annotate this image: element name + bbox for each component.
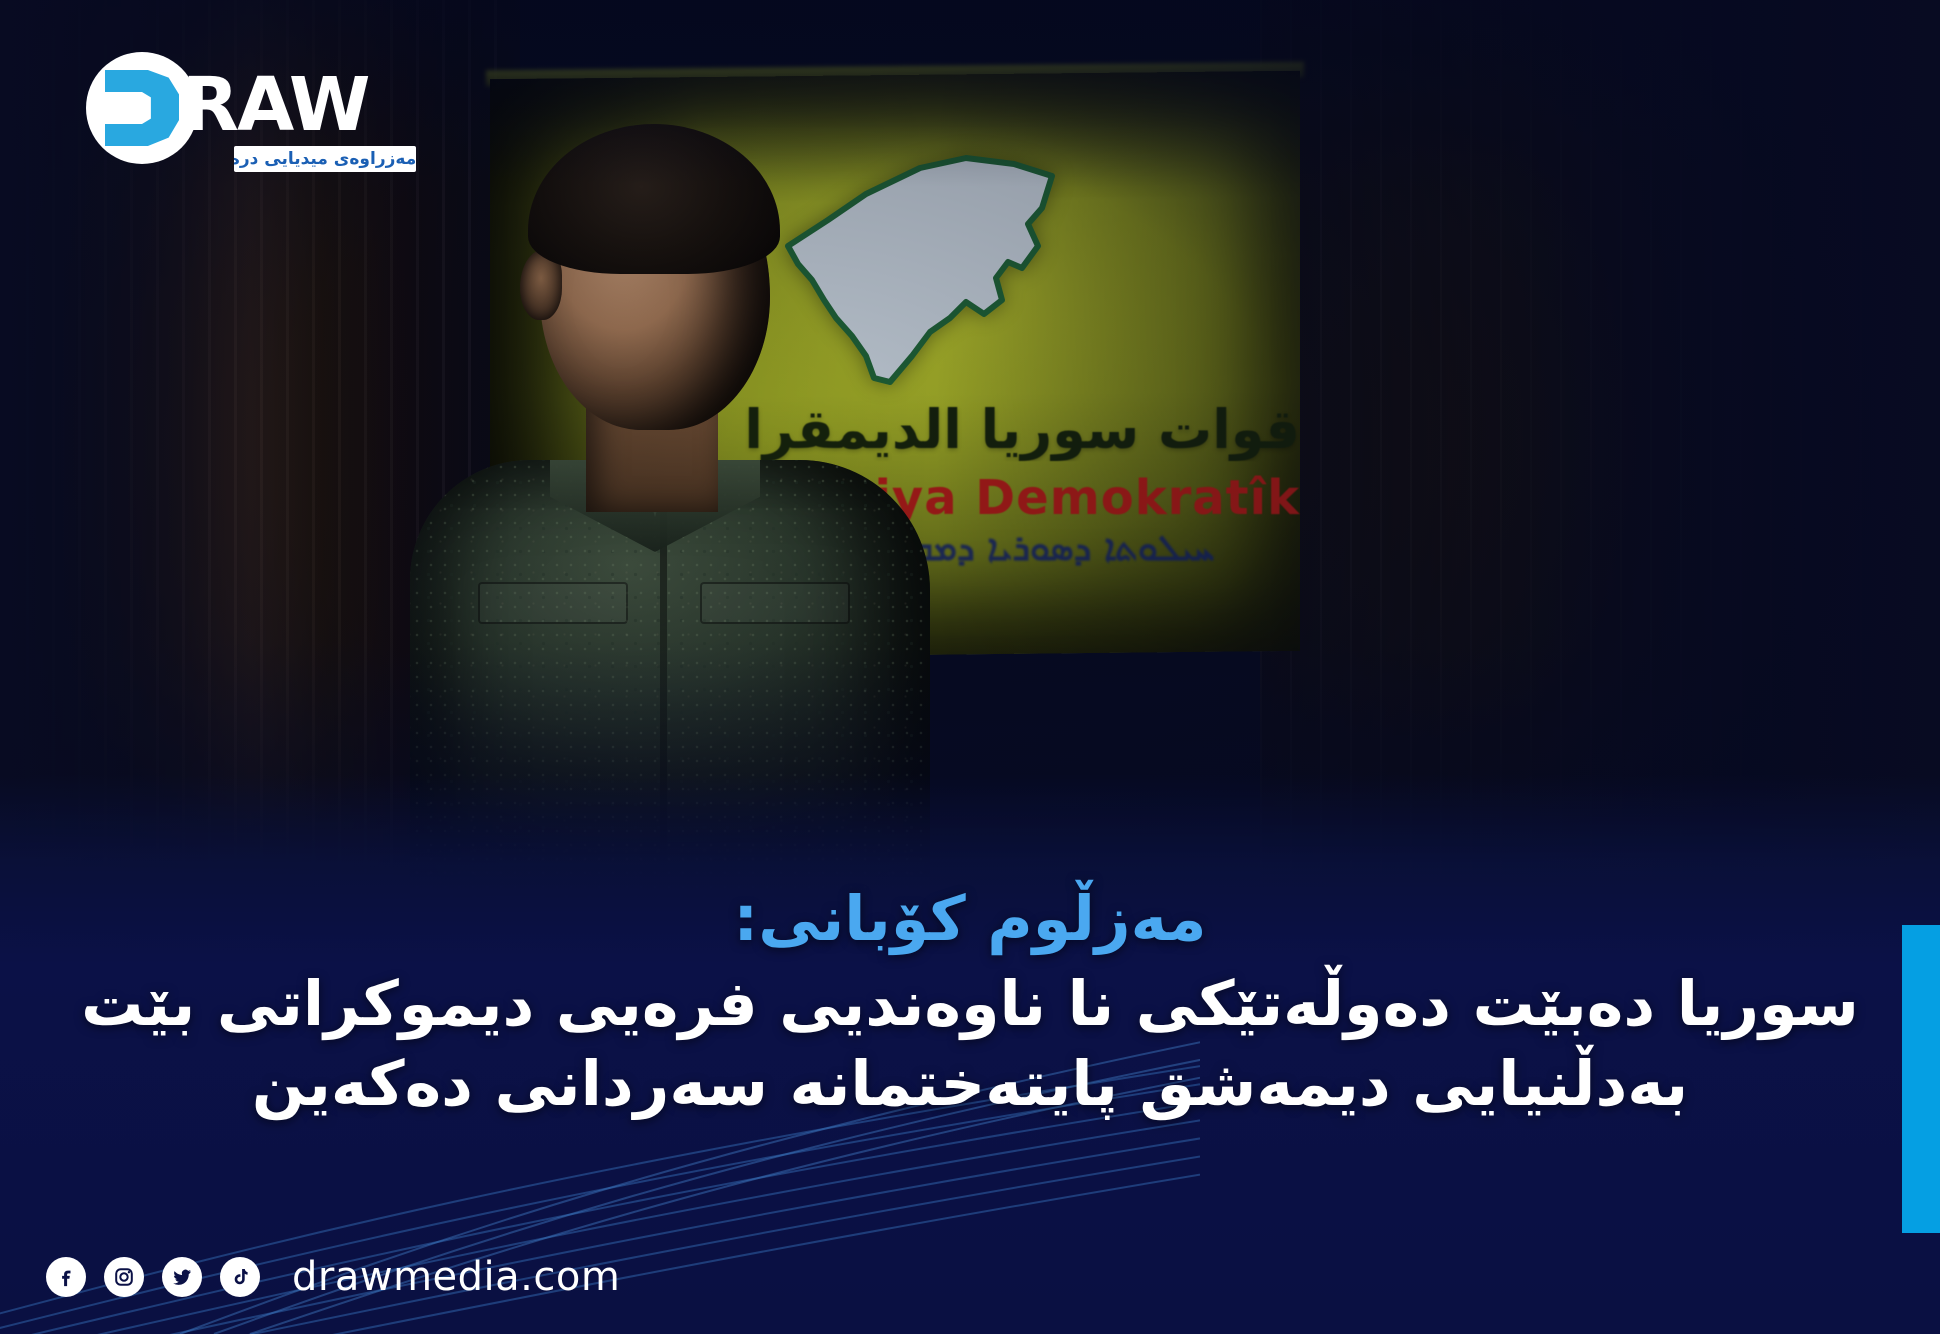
drawmedia-logo[interactable]: RAW دامەزراوەی میدیایی درەو [86,52,416,168]
news-card: قوات سوريا الديمقرا a Sûriya Demokratîk … [0,0,1940,1334]
headline-kicker: مەزڵوم کۆبانی: [34,880,1906,958]
logo-subtitle: دامەزراوەی میدیایی درەو [234,146,416,172]
logo-wordmark: RAW [182,68,369,142]
website-url[interactable]: drawmedia.com [292,1254,620,1300]
twitter-icon[interactable] [162,1257,202,1297]
tiktok-icon[interactable] [220,1257,260,1297]
facebook-icon[interactable] [46,1257,86,1297]
headline-line-2: بەدڵنیایی دیمەشق پایتەختمانە سەردانی دەک… [34,1044,1906,1125]
headline-line-1: سوریا دەبێت دەوڵەتێکی نا ناوەندیی فرەیی … [34,964,1906,1045]
logo-letter-d [105,70,179,146]
footer-bar: drawmedia.com [46,1254,620,1300]
instagram-icon[interactable] [104,1257,144,1297]
headline-block: مەزڵوم کۆبانی: سوریا دەبێت دەوڵەتێکی نا … [0,880,1940,1125]
